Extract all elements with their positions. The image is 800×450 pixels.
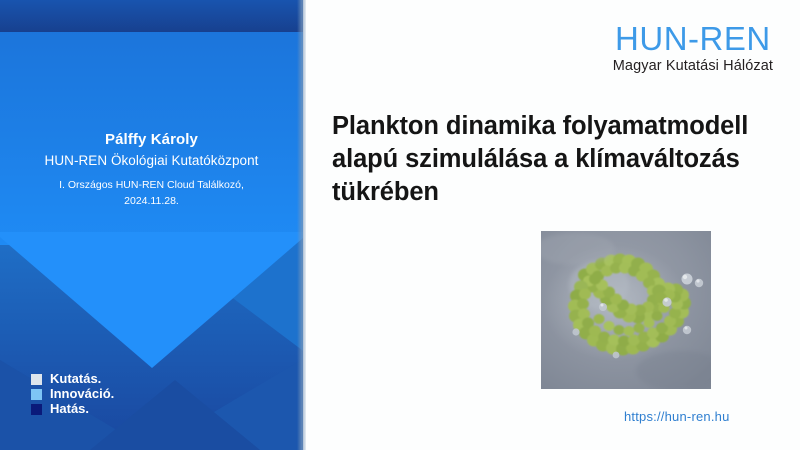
micrograph-illustration [541,231,711,389]
tagline-word-innovation: Innováció. [50,386,114,401]
tagline-word-impact: Hatás. [50,401,114,416]
tagline-word-research: Kutatás. [50,371,114,386]
logo-subtitle: Magyar Kutatási Hálózat [613,57,773,75]
tagline-words: Kutatás. Innováció. Hatás. [50,371,114,416]
hun-ren-logo: HUN-REN Magyar Kutatási Hálózat [613,22,773,75]
author-name: Pálffy Károly [0,130,303,150]
panel-divider-shadow [297,0,306,450]
background-facet-center-chevron [0,232,303,368]
presentation-slide: Pálffy Károly HUN-REN Ökológiai Kutatókö… [0,0,800,450]
brand-tagline: Kutatás. Innováció. Hatás. [31,371,114,419]
author-affiliation: HUN-REN Ökológiai Kutatóközpont [0,150,303,172]
logo-wordmark: HUN-REN [613,22,773,56]
background-facet-bottom-wedge [90,380,260,450]
event-and-date: I. Országos HUN-REN Cloud Találkozó, 202… [0,177,303,209]
tagline-color-swatches [31,371,42,419]
swatch-mid-blue [31,389,42,400]
swatch-light [31,374,42,385]
author-block: Pálffy Károly HUN-REN Ökológiai Kutatókö… [0,130,303,209]
swatch-navy [31,404,42,415]
slide-title: Plankton dinamika folyamatmodell alapú s… [332,110,764,209]
website-url[interactable]: https://hun-ren.hu [624,409,730,424]
plankton-algae-colony-micrograph [541,231,711,389]
background-facet-bottom-band [0,0,303,32]
